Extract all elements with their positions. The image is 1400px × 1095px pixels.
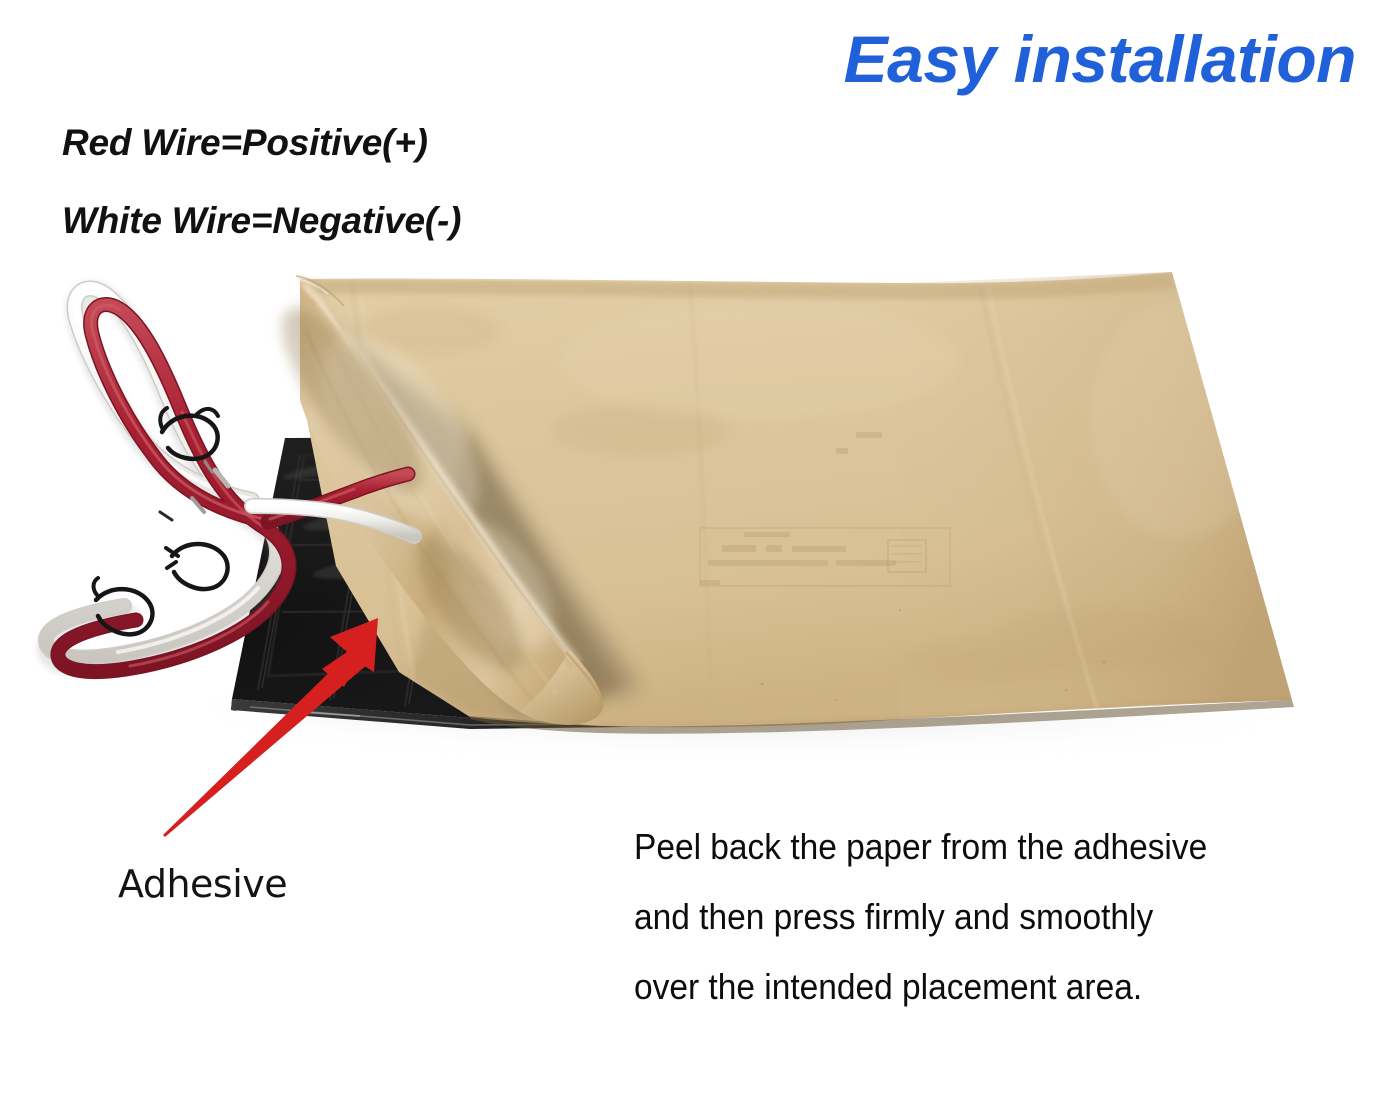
- page-title: Easy installation: [844, 26, 1356, 92]
- installation-instruction-image: Easy installation Red Wire=Positive(+) W…: [0, 0, 1400, 1095]
- adhesive-label: Adhesive: [118, 862, 287, 906]
- caption-line-3: over the intended placement area.: [634, 952, 1285, 1022]
- instruction-caption: Peel back the paper from the adhesive an…: [634, 812, 1334, 1022]
- caption-line-1: Peel back the paper from the adhesive: [634, 812, 1285, 882]
- wire-legend-white: White Wire=Negative(-): [62, 200, 461, 242]
- caption-line-2: and then press firmly and smoothly: [634, 882, 1285, 952]
- wire-legend-red: Red Wire=Positive(+): [62, 122, 428, 164]
